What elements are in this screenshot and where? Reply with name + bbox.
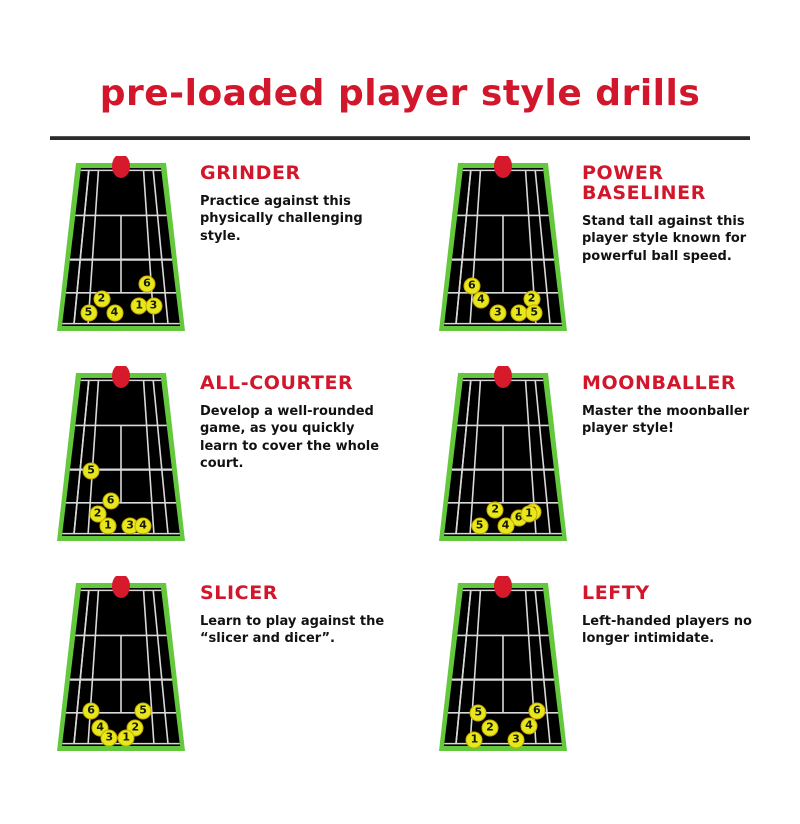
drill-description: Practice against this physically challen… xyxy=(200,193,385,245)
poster-root: pre-loaded player style drills 621354GRI… xyxy=(0,24,800,786)
page-title: pre-loaded player style drills xyxy=(0,24,800,112)
court-wrap: 654231 xyxy=(56,576,186,754)
drill-text: ALL-COURTERDevelop a well-rounded game, … xyxy=(186,366,385,472)
drill-title: LEFTY xyxy=(582,584,767,604)
court-wrap: 263154 xyxy=(438,366,568,544)
ball-marker: 1 xyxy=(466,731,483,748)
ball-marker: 4 xyxy=(497,518,514,535)
tennis-court-diagram xyxy=(56,366,186,544)
drill-text: POWER BASELINERStand tall against this p… xyxy=(568,156,767,265)
drill-title: POWER BASELINER xyxy=(582,164,767,204)
court-wrap: 621354 xyxy=(56,156,186,334)
drill-title: ALL-COURTER xyxy=(200,374,385,394)
drill-card[interactable]: 562134ALL-COURTERDevelop a well-rounded … xyxy=(18,366,400,576)
drill-card[interactable]: 621354GRINDERPractice against this physi… xyxy=(18,156,400,366)
ball-marker: 5 xyxy=(471,518,488,535)
court-wrap: 562413 xyxy=(438,576,568,754)
ball-marker: 5 xyxy=(526,304,543,321)
drill-card[interactable]: 654231SLICERLearn to play against the “s… xyxy=(18,576,400,786)
ball-marker: 3 xyxy=(489,304,506,321)
tennis-court-diagram xyxy=(56,576,186,754)
ball-marker: 3 xyxy=(145,297,162,314)
ball-marker: 6 xyxy=(83,703,100,720)
drill-card[interactable]: 642315POWER BASELINERStand tall against … xyxy=(400,156,782,366)
drill-card[interactable]: 263154MOONBALLERMaster the moonballer pl… xyxy=(400,366,782,576)
ball-marker: 4 xyxy=(135,518,152,535)
ball-marker: 2 xyxy=(482,719,499,736)
drill-text: GRINDERPractice against this physically … xyxy=(186,156,385,245)
ball-marker: 3 xyxy=(101,730,118,747)
title-divider xyxy=(50,136,750,140)
ball-marker: 2 xyxy=(487,502,504,519)
ball-marker: 4 xyxy=(472,292,489,309)
drill-description: Left-handed players no longer intimidate… xyxy=(582,613,767,648)
drill-title: GRINDER xyxy=(200,164,385,184)
ball-marker: 6 xyxy=(102,493,119,510)
ball-marker: 6 xyxy=(139,276,156,293)
ball-marker: 5 xyxy=(83,463,100,480)
ball-marker: 4 xyxy=(106,304,123,321)
drill-card[interactable]: 562413LEFTYLeft-handed players no longer… xyxy=(400,576,782,786)
drill-description: Develop a well-rounded game, as you quic… xyxy=(200,403,385,472)
drill-description: Learn to play against the “slicer and di… xyxy=(200,613,385,648)
drill-text: MOONBALLERMaster the moonballer player s… xyxy=(568,366,767,438)
ball-marker: 5 xyxy=(470,705,487,722)
ball-marker: 5 xyxy=(135,703,152,720)
ball-marker: 2 xyxy=(93,290,110,307)
ball-marker: 5 xyxy=(80,304,97,321)
ball-marker: 1 xyxy=(100,518,117,535)
drill-text: SLICERLearn to play against the “slicer … xyxy=(186,576,385,648)
drill-text: LEFTYLeft-handed players no longer intim… xyxy=(568,576,767,648)
ball-marker: 4 xyxy=(521,717,538,734)
tennis-court-diagram xyxy=(438,576,568,754)
court-wrap: 562134 xyxy=(56,366,186,544)
drill-title: SLICER xyxy=(200,584,385,604)
court-wrap: 642315 xyxy=(438,156,568,334)
drill-description: Master the moonballer player style! xyxy=(582,403,767,438)
ball-marker: 1 xyxy=(118,730,135,747)
drill-grid: 621354GRINDERPractice against this physi… xyxy=(0,156,800,786)
ball-marker: 1 xyxy=(510,304,527,321)
ball-marker: 3 xyxy=(508,731,525,748)
drill-title: MOONBALLER xyxy=(582,374,767,394)
ball-marker: 1 xyxy=(521,505,538,522)
drill-description: Stand tall against this player style kno… xyxy=(582,213,767,265)
